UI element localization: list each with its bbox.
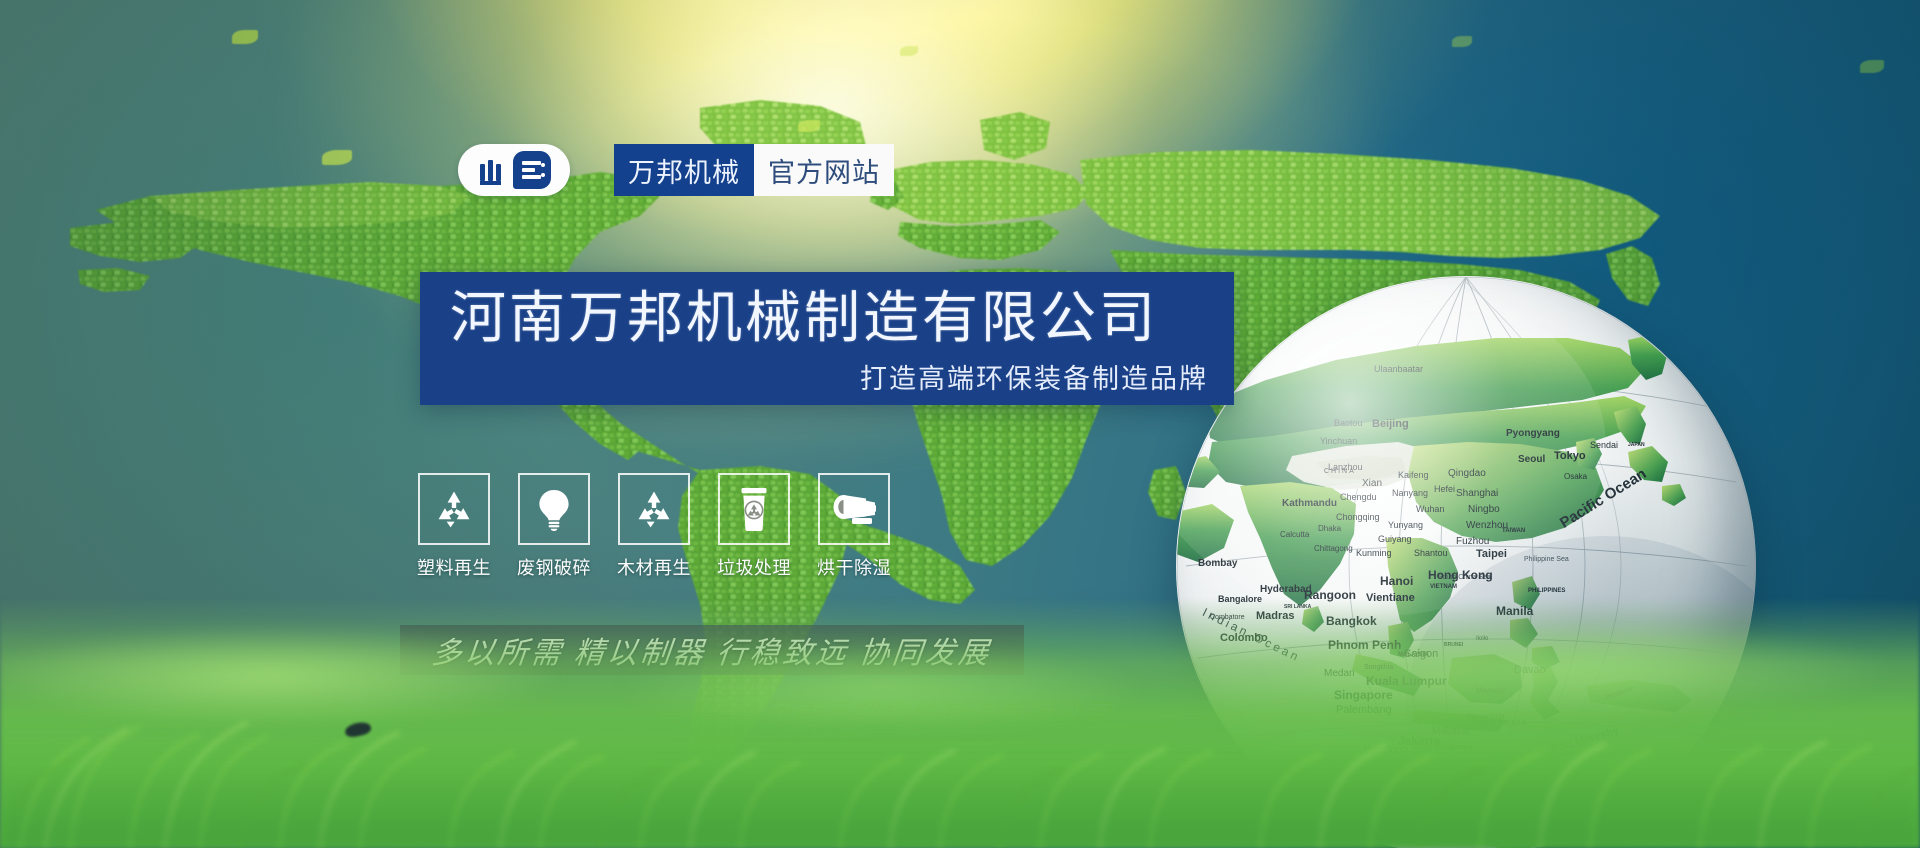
- service-item-drying-dehumidify[interactable]: 烘干除湿: [818, 473, 890, 580]
- official-site-tag[interactable]: 官方网站: [754, 144, 894, 196]
- page-subtitle: 打造高端环保装备制造品牌: [860, 357, 1208, 396]
- lightbulb-icon: [518, 473, 590, 545]
- trash-bin-icon: [718, 473, 790, 545]
- service-item-wood-recycling[interactable]: 木材再生: [618, 473, 690, 580]
- logo-w-icon: [478, 155, 508, 185]
- service-label: 废钢破碎: [517, 554, 591, 580]
- recycle-icon: [418, 473, 490, 545]
- logo-badge[interactable]: [458, 144, 570, 196]
- service-label: 木材再生: [617, 554, 691, 580]
- logo-b-speech-bubble-icon: [513, 151, 551, 189]
- brand-logo-bar[interactable]: 万邦机械 官方网站: [458, 140, 894, 200]
- service-label: 垃圾处理: [717, 554, 791, 580]
- grass-highlight: [0, 598, 1920, 728]
- service-label: 塑料再生: [417, 554, 491, 580]
- hero-title-panel: 河南万邦机械制造有限公司 打造高端环保装备制造品牌: [420, 272, 1234, 405]
- hero-banner: Pacific Ocean Indian Ocean South China S…: [0, 0, 1920, 848]
- service-item-plastic-recycling[interactable]: 塑料再生: [418, 473, 490, 580]
- service-icon-row: 塑料再生 废钢破碎 木材再生: [418, 473, 890, 580]
- service-label: 烘干除湿: [817, 554, 891, 580]
- recycle-icon: [618, 473, 690, 545]
- service-item-steel-shredding[interactable]: 废钢破碎: [518, 473, 590, 580]
- grass-shadow: [0, 758, 1920, 848]
- service-item-waste-treatment[interactable]: 垃圾处理: [718, 473, 790, 580]
- brand-name-tag[interactable]: 万邦机械: [614, 144, 754, 196]
- page-title: 河南万邦机械制造有限公司: [450, 278, 1158, 358]
- dryer-icon: [818, 473, 890, 545]
